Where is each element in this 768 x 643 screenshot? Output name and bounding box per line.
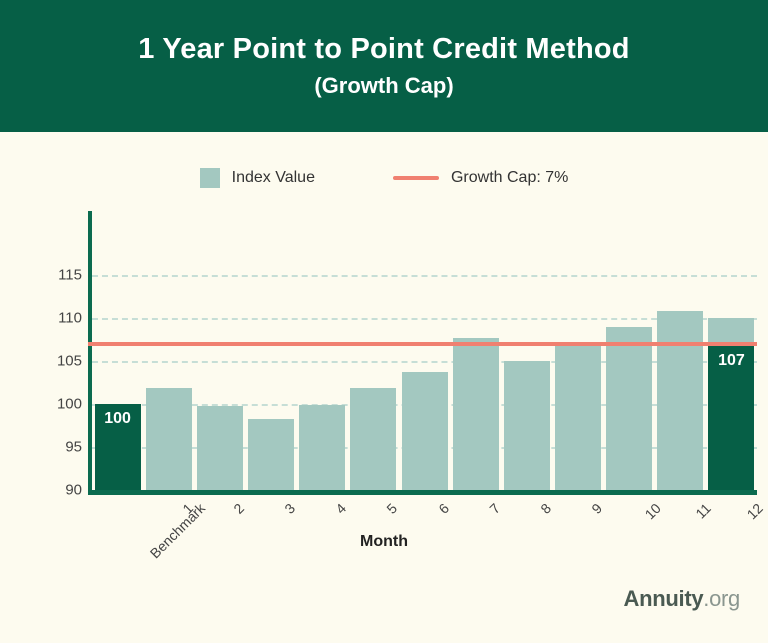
bar-5 (350, 388, 396, 490)
x-axis-tick-label: 6 (435, 500, 452, 517)
x-axis-tick-label: 11 (693, 500, 715, 522)
x-axis-tick-label: 9 (588, 500, 605, 517)
bar-8 (504, 361, 550, 490)
growth-cap-reference-line (88, 342, 757, 346)
bar-3 (248, 419, 294, 490)
x-axis-tick-label: 7 (486, 500, 503, 517)
bar-value-label: 107 (708, 352, 754, 370)
bar-2 (197, 406, 243, 490)
x-axis-tick-label: 8 (537, 500, 554, 517)
bar-chart-plot-area: 9095100105110115 100107 Benchmark1234567… (0, 0, 768, 643)
x-axis-tick-label: 5 (384, 500, 401, 517)
x-axis-tick-label: 2 (230, 500, 247, 517)
x-axis-tick-label: 10 (642, 500, 664, 522)
x-axis-tick-label: 3 (281, 500, 298, 517)
bar-4 (299, 405, 345, 490)
bar-7 (453, 338, 499, 490)
x-axis-tick-label: 4 (332, 500, 349, 517)
bar-10 (606, 327, 652, 490)
bar-value-label: 100 (95, 410, 141, 428)
x-axis-tick-label: 12 (744, 500, 766, 522)
bar-9 (555, 344, 601, 490)
y-axis-tick-label: 105 (46, 353, 82, 370)
brand-logo: Annuity.org (624, 586, 741, 612)
y-axis-tick-label: 90 (46, 482, 82, 499)
brand-name: Annuity (624, 586, 704, 611)
y-axis-tick-label: 100 (46, 396, 82, 413)
y-axis-line (88, 211, 92, 494)
y-axis-tick-label: 115 (46, 267, 82, 284)
y-axis-tick-label: 110 (46, 310, 82, 327)
bar-1 (146, 388, 192, 490)
x-axis-tick-label: Benchmark (146, 500, 207, 561)
gridline (92, 275, 757, 277)
x-axis-line (88, 490, 757, 495)
bar-6 (402, 372, 448, 490)
brand-tld: .org (703, 586, 740, 611)
x-axis-title: Month (0, 533, 768, 551)
bar-11 (657, 311, 703, 490)
y-axis-tick-label: 95 (46, 439, 82, 456)
